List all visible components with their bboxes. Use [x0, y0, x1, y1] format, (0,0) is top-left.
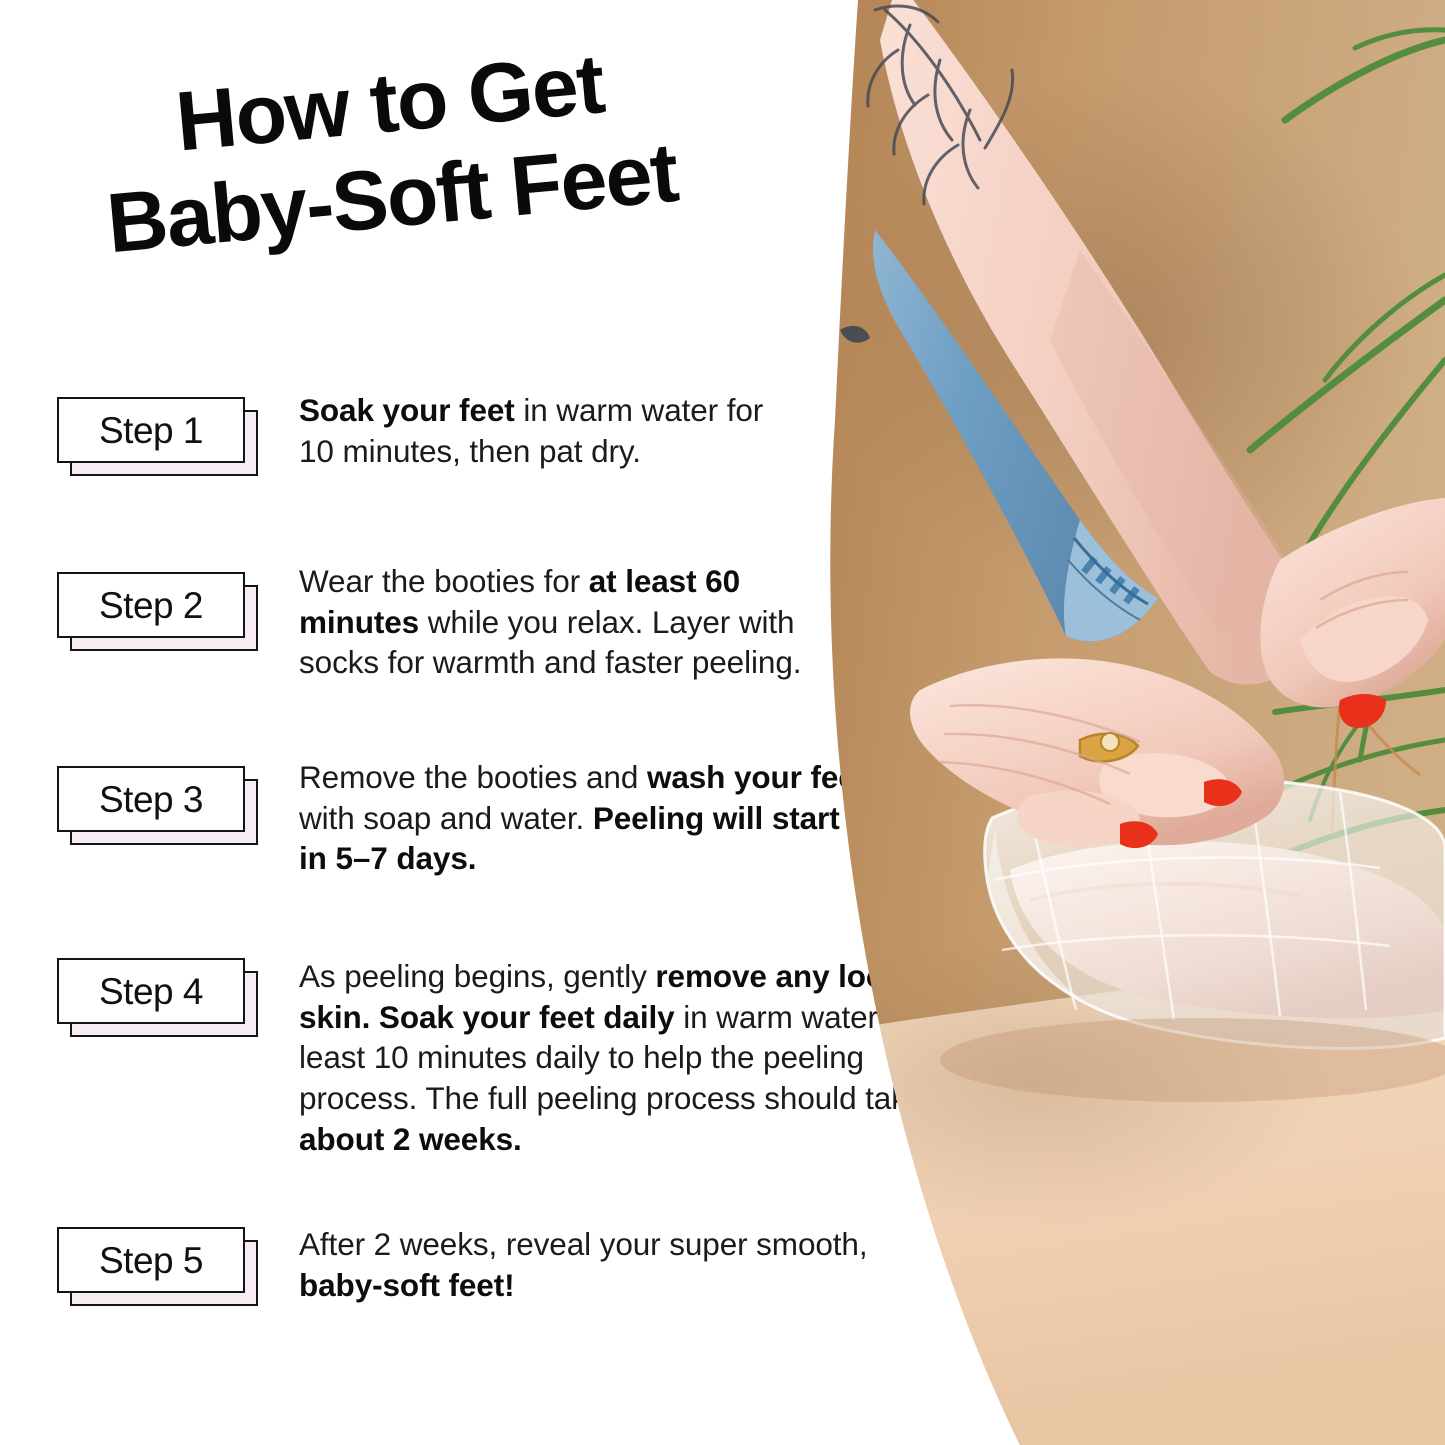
page-title: How to Get Baby-Soft Feet	[95, 26, 788, 265]
step-badge-label: Step 5	[99, 1242, 203, 1279]
step-description-5: After 2 weeks, reveal your super smooth,…	[299, 1224, 939, 1305]
step-badge-2: Step 2	[57, 572, 245, 638]
step-badge-label: Step 3	[99, 781, 203, 818]
step-description-2: Wear the booties for at least 60 minutes…	[299, 561, 839, 683]
step-badge-face: Step 2	[57, 572, 245, 638]
step-badge-label: Step 2	[99, 587, 203, 624]
infographic-page: How to Get Baby-Soft Feet Step 1 Soak yo…	[0, 0, 1445, 1445]
step-badge-label: Step 1	[99, 412, 203, 449]
step-badge-face: Step 3	[57, 766, 245, 832]
step-badge-3: Step 3	[57, 766, 245, 832]
step-description-3: Remove the booties and wash your feet wi…	[299, 757, 869, 879]
step-badge-1: Step 1	[57, 397, 245, 463]
step-badge-face: Step 4	[57, 958, 245, 1024]
foot-contact-shadow	[940, 1018, 1445, 1102]
step-badge-4: Step 4	[57, 958, 245, 1024]
step-badge-5: Step 5	[57, 1227, 245, 1293]
step-description-4: As peeling begins, gently remove any loo…	[299, 956, 964, 1159]
step-badge-face: Step 1	[57, 397, 245, 463]
step-description-1: Soak your feet in warm water for 10 minu…	[299, 390, 769, 471]
step-badge-face: Step 5	[57, 1227, 245, 1293]
step-badge-label: Step 4	[99, 973, 203, 1010]
